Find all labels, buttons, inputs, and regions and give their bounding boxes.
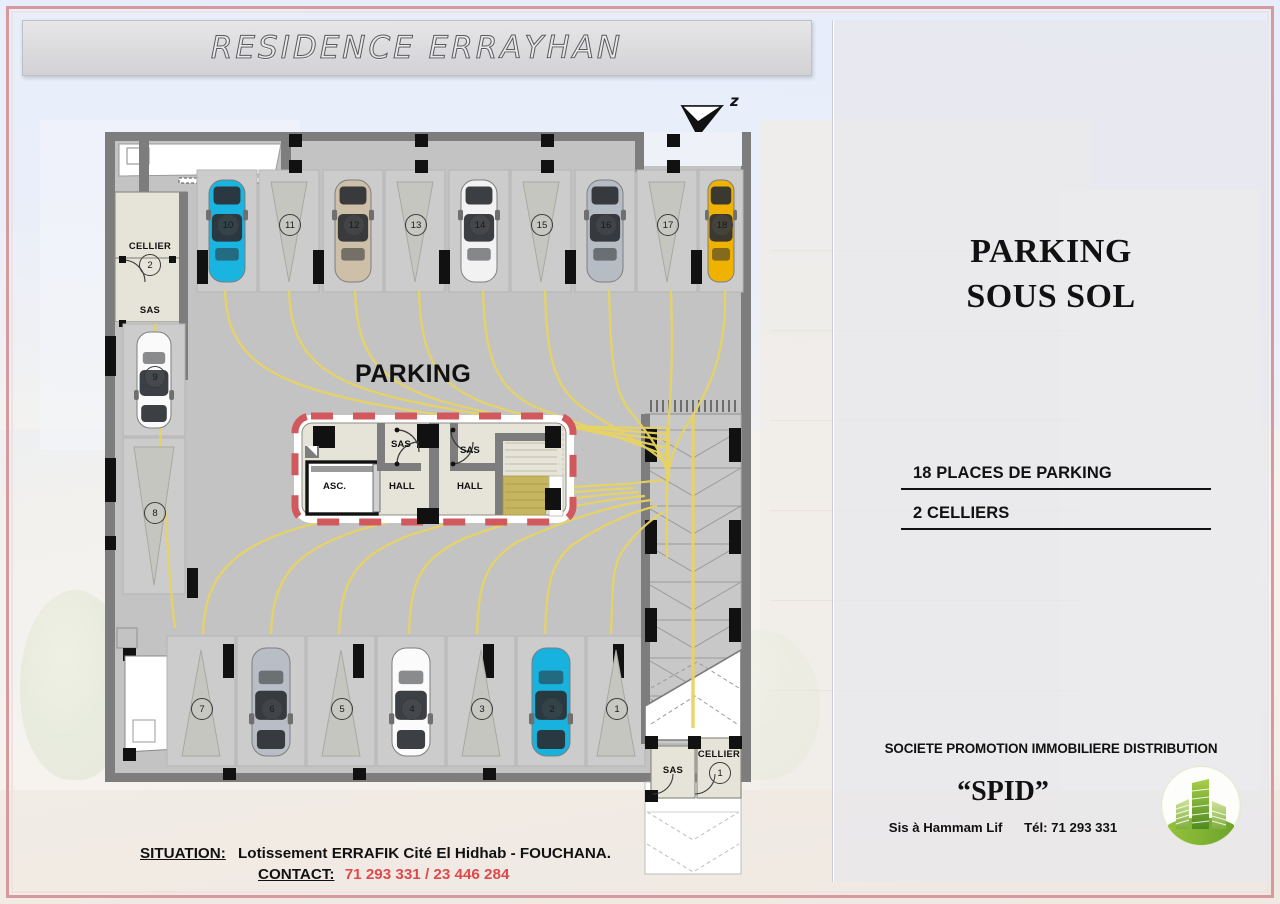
company-phone: Tél: 71 293 331	[1024, 820, 1117, 835]
space-number-15: 15	[531, 214, 553, 236]
parking-space-16[interactable]: 16	[575, 170, 635, 292]
parking-space-3[interactable]: 3	[447, 636, 515, 766]
parking-space-18[interactable]: 18	[699, 170, 743, 292]
parking-space-13[interactable]: 13	[385, 170, 445, 292]
parking-space-10[interactable]: 10	[197, 170, 257, 292]
space-number-3: 3	[471, 698, 493, 720]
space-number-18: 18	[711, 214, 733, 236]
info-panel: PARKING SOUS SOL 18 PLACES DE PARKING 2 …	[832, 20, 1269, 882]
parking-space-12[interactable]: 12	[323, 170, 383, 292]
parking-bays-layer: 1011 1213 1415 1617 187 65	[105, 128, 755, 788]
situation-footer: SITUATION: Lotissement ERRAFIK Cité El H…	[140, 845, 820, 883]
panel-heading: PARKING SOUS SOL	[833, 230, 1269, 320]
space-number-9: 9	[144, 366, 166, 388]
space-number-16: 16	[595, 214, 617, 236]
panel-heading-line1: PARKING	[833, 230, 1269, 275]
contact-label: CONTACT:	[258, 866, 334, 883]
brand-name: “SPID”	[833, 776, 1173, 808]
spid-logo	[1161, 766, 1241, 846]
space-number-17: 17	[657, 214, 679, 236]
svg-text:z: z	[729, 92, 739, 110]
parking-space-6[interactable]: 6	[237, 636, 305, 766]
company-address: Sis à Hammam Lif	[889, 820, 1003, 835]
company-contact: Sis à Hammam Lif Tél: 71 293 331	[833, 820, 1173, 835]
parking-space-4[interactable]: 4	[377, 636, 445, 766]
parking-space-15[interactable]: 15	[511, 170, 571, 292]
space-number-13: 13	[405, 214, 427, 236]
page-title: RESIDENCE ERRAYHAN	[211, 30, 623, 66]
parking-space-17[interactable]: 17	[637, 170, 697, 292]
space-number-7: 7	[191, 698, 213, 720]
space-number-10: 10	[217, 214, 239, 236]
parking-space-5[interactable]: 5	[307, 636, 375, 766]
panel-footer: SOCIETE PROMOTION IMMOBILIERE DISTRIBUTI…	[833, 741, 1269, 854]
space-number-4: 4	[401, 698, 423, 720]
space-number-11: 11	[279, 214, 301, 236]
situation-label: SITUATION:	[140, 845, 226, 862]
parking-space-8[interactable]: 8	[123, 438, 185, 594]
parking-space-2[interactable]: 2	[517, 636, 585, 766]
parking-space-11[interactable]: 11	[259, 170, 319, 292]
space-number-5: 5	[331, 698, 353, 720]
panel-stats: 18 PLACES DE PARKING 2 CELLIERS	[901, 460, 1211, 530]
space-number-2: 2	[541, 698, 563, 720]
parking-space-1[interactable]: 1	[587, 636, 645, 766]
title-plate: RESIDENCE ERRAYHAN	[22, 20, 812, 76]
stat-places: 18 PLACES DE PARKING	[901, 460, 1211, 490]
space-number-8: 8	[144, 502, 166, 524]
situation-value: Lotissement ERRAFIK Cité El Hidhab - FOU…	[238, 845, 611, 862]
floor-plan: CELLIER 2 SAS CELLIER 1 SAS ASC. HALL HA…	[105, 128, 755, 788]
space-number-1: 1	[606, 698, 628, 720]
contact-value: 71 293 331 / 23 446 284	[345, 866, 510, 883]
poster-root: RESIDENCE ERRAYHAN z	[0, 0, 1280, 904]
space-number-12: 12	[343, 214, 365, 236]
company-name: SOCIETE PROMOTION IMMOBILIERE DISTRIBUTI…	[833, 741, 1269, 756]
stat-celliers: 2 CELLIERS	[901, 500, 1211, 530]
space-number-14: 14	[469, 214, 491, 236]
parking-space-7[interactable]: 7	[167, 636, 235, 766]
panel-heading-line2: SOUS SOL	[833, 275, 1269, 320]
parking-space-14[interactable]: 14	[449, 170, 509, 292]
parking-space-9[interactable]: 9	[123, 324, 185, 436]
space-number-6: 6	[261, 698, 283, 720]
